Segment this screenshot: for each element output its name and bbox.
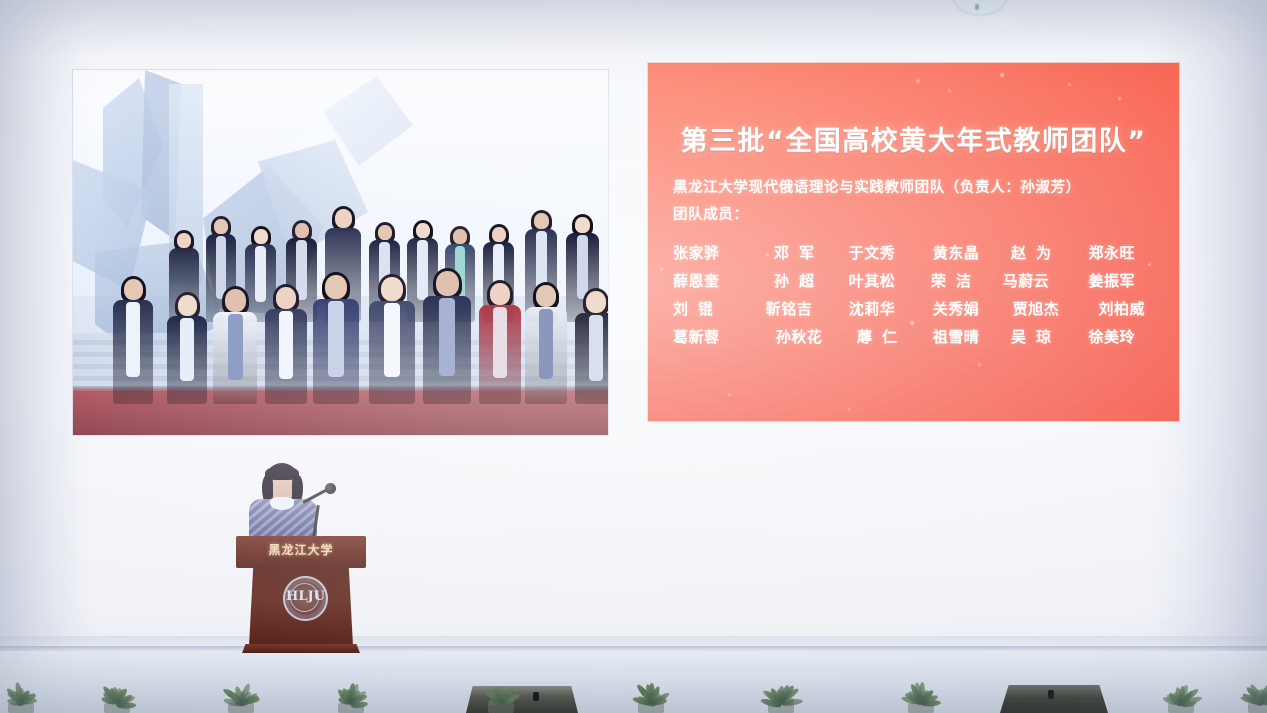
- podium: 黑龙江大学 HLJU: [236, 536, 366, 657]
- person-face: [295, 223, 309, 238]
- person-face: [214, 219, 228, 234]
- potted-plant: [220, 679, 264, 713]
- person-face: [381, 277, 403, 301]
- member-name: 马蔚云: [987, 270, 1065, 291]
- person-inner-garment: [384, 303, 400, 377]
- member-name-row: 葛新蓉孙秋花蓐仁祖雪晴吴琼徐美玲: [673, 322, 1155, 350]
- person-face: [225, 289, 246, 312]
- member-name: 孙超: [759, 270, 839, 291]
- member-name: 郑永旺: [1065, 242, 1135, 263]
- member-name: 贾旭杰: [997, 298, 1075, 319]
- person-face: [276, 287, 296, 309]
- person-inner-garment: [279, 311, 293, 379]
- member-name: 祖雪晴: [915, 326, 997, 347]
- speaker-presenter: [241, 463, 325, 541]
- potted-plant: [900, 679, 944, 713]
- person-face: [536, 285, 556, 307]
- member-name-row: 刘锟靳铭吉沈莉华关秀娟贾旭杰刘柏威: [673, 294, 1155, 322]
- member-name: 吴琼: [997, 326, 1075, 347]
- photo-person: [167, 292, 207, 404]
- photo-person: [213, 286, 257, 404]
- emblem-glyph: HLJU: [285, 589, 326, 604]
- photo-person: [313, 272, 359, 404]
- plant-leaf: [117, 702, 136, 709]
- member-name: 荣洁: [915, 270, 997, 291]
- photo-person: [575, 288, 608, 404]
- sparkle-dot: [1118, 97, 1121, 100]
- photo-person: [369, 274, 415, 404]
- member-name: 沈莉华: [829, 298, 915, 319]
- slide-subtitle: 黑龙江大学现代俄语理论与实践教师团队（负责人：孙淑芳）: [673, 176, 1081, 197]
- member-name: 赵为: [997, 242, 1075, 263]
- plant-leaf: [921, 700, 941, 707]
- person-face: [453, 229, 467, 244]
- wall-top-shading: [0, 0, 1267, 56]
- person-face: [177, 233, 191, 248]
- member-name: 叶其松: [829, 270, 915, 291]
- person-face: [416, 223, 430, 238]
- member-name: 徐美玲: [1065, 326, 1135, 347]
- podium-top-panel: 黑龙江大学: [236, 536, 366, 568]
- sparkle-dot: [728, 393, 731, 396]
- sparkle-dot: [660, 268, 663, 271]
- member-name: 黄东晶: [915, 242, 997, 263]
- person-face: [335, 209, 352, 228]
- stage-monitor-left-port: [533, 692, 539, 701]
- member-name: 刘锟: [673, 298, 759, 319]
- member-name: 姜振军: [1065, 270, 1135, 291]
- person-face: [325, 275, 347, 299]
- member-name: 葛新蓉: [673, 326, 759, 347]
- sparkle-dot: [1000, 73, 1004, 77]
- potted-plant: [630, 679, 674, 713]
- member-name: 于文秀: [829, 242, 915, 263]
- photo-person: [265, 284, 307, 404]
- person-face: [436, 271, 459, 296]
- member-name: 孙秋花: [759, 326, 839, 347]
- stage-monitor-right: [1000, 685, 1108, 713]
- plant-leaf: [21, 697, 37, 705]
- members-label: 团队成员：: [673, 203, 749, 224]
- member-name: 刘柏威: [1075, 298, 1145, 319]
- member-name-table: 张家骅邓军于文秀黄东晶赵为郑永旺薛恩奎孙超叶其松荣洁马蔚云姜振军刘锟靳铭吉沈莉华…: [673, 238, 1155, 350]
- sparkle-dot: [1068, 83, 1071, 86]
- potted-plant: [480, 679, 524, 713]
- person-face: [490, 283, 510, 305]
- podium-university-name: 黑龙江大学: [236, 541, 366, 558]
- person-inner-garment: [439, 298, 455, 376]
- person-face: [586, 291, 606, 313]
- person-face: [492, 227, 506, 242]
- sparkle-dot: [916, 79, 920, 83]
- slide-group-photo: [73, 70, 608, 435]
- photo-person: [113, 276, 153, 404]
- potted-plant: [96, 679, 140, 713]
- member-name: 邓军: [759, 242, 839, 263]
- member-name: 张家骅: [673, 242, 759, 263]
- ceiling-fixture-dot: [975, 4, 979, 10]
- member-name: 蓐仁: [839, 326, 925, 347]
- person-face: [124, 279, 143, 300]
- stage-monitor-right-port: [1048, 690, 1054, 699]
- microphone-icon: [325, 483, 336, 494]
- member-name: 薛恩奎: [673, 270, 759, 291]
- speaker-collar: [270, 497, 294, 510]
- potted-plant: [0, 679, 44, 713]
- photo-person: [479, 280, 521, 404]
- sparkle-dot: [978, 363, 981, 366]
- potted-plant: [760, 679, 804, 713]
- potted-plant: [1240, 679, 1267, 713]
- person-inner-garment: [493, 307, 507, 378]
- photo-person: [525, 282, 567, 404]
- person-inner-garment: [328, 301, 344, 377]
- person-face: [534, 213, 549, 229]
- potted-plant: [330, 679, 374, 713]
- person-face: [254, 229, 268, 244]
- person-inner-garment: [180, 318, 194, 381]
- person-face: [178, 295, 197, 316]
- person-inner-garment: [126, 302, 140, 377]
- person-face: [575, 217, 590, 233]
- screenshot-root: 第三批“全国高校黄大年式教师团队” 黑龙江大学现代俄语理论与实践教师团队（负责人…: [0, 0, 1267, 713]
- sparkle-dot: [848, 408, 851, 411]
- slide-red-panel: 第三批“全国高校黄大年式教师团队” 黑龙江大学现代俄语理论与实践教师团队（负责人…: [648, 63, 1179, 421]
- photo-person: [423, 268, 471, 404]
- member-name: 关秀娟: [915, 298, 997, 319]
- member-name-row: 张家骅邓军于文秀黄东晶赵为郑永旺: [673, 238, 1155, 266]
- person-inner-garment: [539, 309, 553, 379]
- person-face: [378, 225, 392, 240]
- podium-base: [242, 644, 360, 653]
- slide-title: 第三批“全国高校黄大年式教师团队”: [648, 119, 1179, 158]
- sparkle-dot: [948, 89, 951, 92]
- person-inner-garment: [228, 314, 243, 380]
- potted-plant: [1160, 679, 1204, 713]
- person-inner-garment: [589, 315, 603, 381]
- university-emblem-icon: HLJU: [283, 576, 328, 621]
- member-name: 靳铭吉: [749, 298, 829, 319]
- member-name-row: 薛恩奎孙超叶其松荣洁马蔚云姜振军: [673, 266, 1155, 294]
